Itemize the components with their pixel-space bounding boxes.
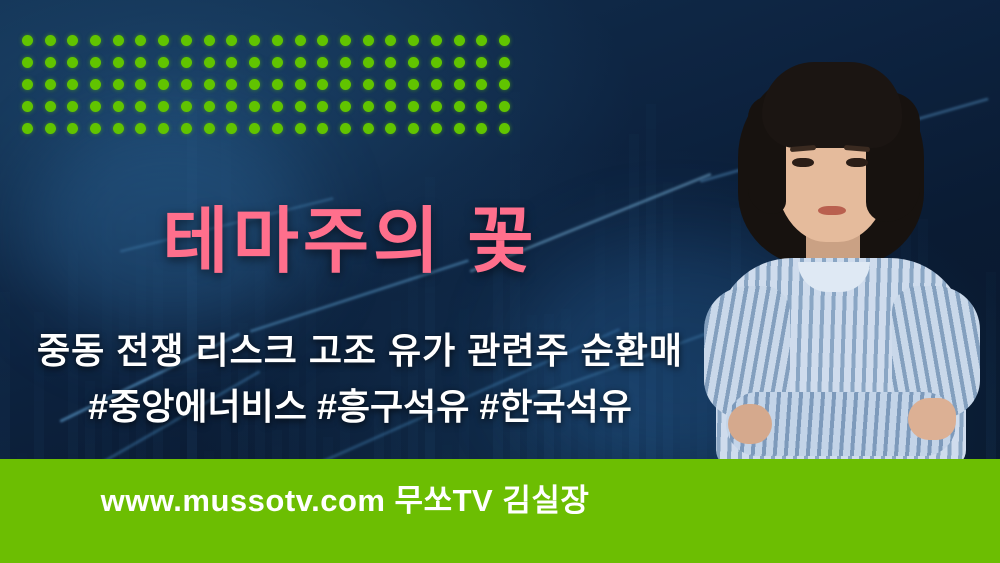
dot: [158, 79, 169, 90]
dot: [113, 35, 124, 46]
dot: [385, 101, 396, 112]
dot: [249, 57, 260, 68]
dot: [385, 57, 396, 68]
dot: [226, 79, 237, 90]
dot: [408, 79, 419, 90]
dot: [295, 101, 306, 112]
dot: [181, 101, 192, 112]
dot: [499, 79, 510, 90]
presenter-hand-right: [728, 404, 772, 444]
dot: [249, 35, 260, 46]
dot: [67, 79, 78, 90]
dot: [135, 101, 146, 112]
thumbnail-canvas: 테마주의 꽃 중동 전쟁 리스크 고조 유가 관련주 순환매 #중앙에너비스 #…: [0, 0, 1000, 563]
dot: [499, 101, 510, 112]
dot: [454, 79, 465, 90]
dot: [90, 101, 101, 112]
dot: [158, 123, 169, 134]
dot: [135, 57, 146, 68]
dot: [295, 57, 306, 68]
dot: [295, 35, 306, 46]
dot: [45, 101, 56, 112]
dot: [340, 35, 351, 46]
dot: [317, 57, 328, 68]
dot: [363, 79, 374, 90]
dot: [340, 79, 351, 90]
presenter-hand-left: [908, 398, 956, 440]
dot: [431, 123, 442, 134]
dot: [272, 57, 283, 68]
dot: [249, 123, 260, 134]
dot: [476, 123, 487, 134]
dot: [90, 79, 101, 90]
footer-banner: www.mussotv.com 무쏘TV 김실장: [0, 459, 1000, 563]
dot: [408, 123, 419, 134]
dot: [90, 57, 101, 68]
dot: [408, 35, 419, 46]
dot: [317, 123, 328, 134]
dot: [476, 101, 487, 112]
dot: [363, 123, 374, 134]
dot: [385, 79, 396, 90]
dot: [431, 79, 442, 90]
dot: [158, 101, 169, 112]
dot: [113, 57, 124, 68]
dot: [476, 57, 487, 68]
dot: [45, 123, 56, 134]
dot: [67, 57, 78, 68]
dot: [317, 35, 328, 46]
dot: [226, 101, 237, 112]
dot: [317, 79, 328, 90]
dot: [363, 57, 374, 68]
dot: [249, 79, 260, 90]
presenter-hair-front: [762, 62, 902, 148]
dot: [181, 57, 192, 68]
dot: [181, 123, 192, 134]
green-dot-grid: [16, 30, 516, 140]
dot: [476, 79, 487, 90]
dot: [135, 123, 146, 134]
dot: [113, 101, 124, 112]
dot: [476, 35, 487, 46]
dot: [204, 57, 215, 68]
dot: [249, 101, 260, 112]
dot: [204, 101, 215, 112]
dot: [67, 123, 78, 134]
dot: [363, 35, 374, 46]
subtitle-hashtags: #중앙에너비스 #흥구석유 #한국석유: [0, 378, 720, 430]
dot: [158, 35, 169, 46]
dot: [135, 35, 146, 46]
dot: [22, 79, 33, 90]
dot: [226, 123, 237, 134]
presenter-eye-right: [846, 158, 868, 167]
dot: [385, 35, 396, 46]
dot: [340, 57, 351, 68]
dot: [45, 79, 56, 90]
dot: [408, 57, 419, 68]
footer-channel-text: www.mussotv.com 무쏘TV 김실장: [0, 475, 690, 520]
dot: [295, 123, 306, 134]
dot: [181, 35, 192, 46]
dot: [204, 79, 215, 90]
dot: [499, 123, 510, 134]
dot: [363, 101, 374, 112]
dot: [22, 35, 33, 46]
dot: [135, 79, 146, 90]
dot: [181, 79, 192, 90]
dot: [499, 35, 510, 46]
dot: [295, 79, 306, 90]
dot: [67, 101, 78, 112]
dot: [454, 101, 465, 112]
dot: [431, 35, 442, 46]
dot: [22, 123, 33, 134]
dot: [22, 101, 33, 112]
dot: [340, 123, 351, 134]
dot: [204, 123, 215, 134]
dot: [226, 57, 237, 68]
dot: [317, 101, 328, 112]
dot: [45, 57, 56, 68]
dot: [204, 35, 215, 46]
dot: [67, 35, 78, 46]
dot: [272, 35, 283, 46]
dot: [340, 101, 351, 112]
dot: [22, 57, 33, 68]
dot: [226, 35, 237, 46]
dot: [45, 35, 56, 46]
dot: [454, 57, 465, 68]
dot: [385, 123, 396, 134]
dot: [431, 101, 442, 112]
presenter-mouth: [818, 206, 846, 215]
dot: [431, 57, 442, 68]
dot: [454, 123, 465, 134]
subtitle-line-1: 중동 전쟁 리스크 고조 유가 관련주 순환매: [0, 322, 720, 374]
dot: [90, 35, 101, 46]
dot: [499, 57, 510, 68]
dot: [158, 57, 169, 68]
dot: [272, 123, 283, 134]
dot: [272, 101, 283, 112]
dot: [408, 101, 419, 112]
dot: [272, 79, 283, 90]
dot: [90, 123, 101, 134]
presenter-eye-left: [792, 158, 814, 167]
dot: [113, 123, 124, 134]
dot: [454, 35, 465, 46]
headline-title: 테마주의 꽃: [0, 182, 700, 287]
dot: [113, 79, 124, 90]
